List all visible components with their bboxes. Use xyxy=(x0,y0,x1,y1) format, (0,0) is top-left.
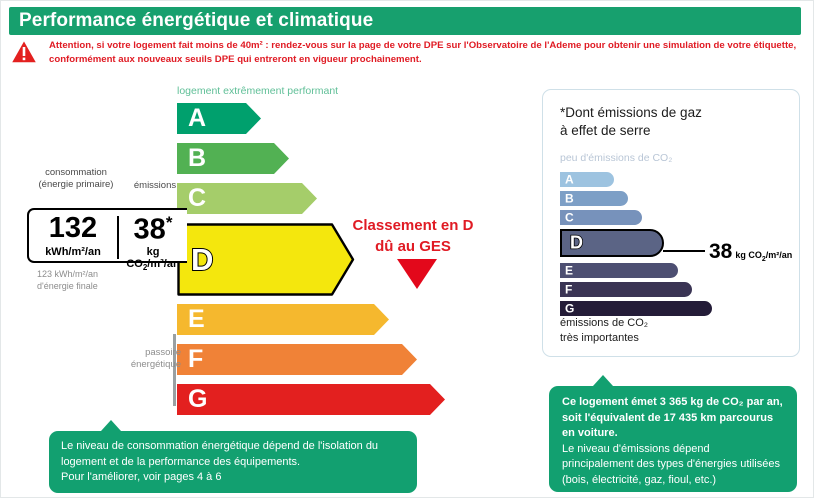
ges-bar-g-letter: G xyxy=(565,302,574,314)
passoire-label: passoire énergétique xyxy=(93,347,181,371)
energy-bar-f-letter: F xyxy=(188,347,203,372)
ges-value-number: 38 xyxy=(709,240,732,263)
energy-bar-f: F xyxy=(177,344,417,375)
passoire-line1: passoire xyxy=(145,347,181,358)
ges-title-line2: à effet de serre xyxy=(560,123,651,138)
energy-bar-a: A xyxy=(177,103,261,134)
emissions-label: émissions xyxy=(119,180,191,191)
classement-line2: dû au GES xyxy=(375,238,451,255)
consumption-info-line1: Le niveau de consommation énergétique dé… xyxy=(61,440,378,452)
ges-caption-bottom-line2: très importantes xyxy=(560,332,639,344)
consumption-label-line1: consommation xyxy=(45,167,107,178)
energy-bar-b-letter: B xyxy=(188,146,206,171)
consumption-value: 132 xyxy=(29,214,117,243)
emissions-info-line1: Ce logement émet 3 365 kg de CO₂ par xyxy=(562,396,764,408)
ges-caption-bottom-line1: émissions de CO₂ xyxy=(560,317,648,329)
final-energy-line1: 123 kWh/m²/an xyxy=(37,269,98,279)
ges-bar-b-letter: B xyxy=(565,192,574,204)
emissions-info-bubble: Ce logement émet 3 365 kg de CO₂ par an,… xyxy=(549,386,797,492)
emissions-unit-post: /m²/an xyxy=(147,258,179,270)
scale-caption-top: logement extrêmement performant xyxy=(177,85,338,97)
final-energy-line2: d'énergie finale xyxy=(37,281,98,291)
ges-bar-b: B xyxy=(560,191,628,206)
ges-bar-c-letter: C xyxy=(565,211,574,223)
ges-bar-f: F xyxy=(560,282,692,297)
ges-value: 38kg CO2/m²/an xyxy=(709,240,792,264)
ges-bar-d-letter: D xyxy=(570,233,583,251)
passoire-line2: énergétique xyxy=(131,359,181,370)
consumption-info-line2: logement et de la performance des équipe… xyxy=(61,456,300,468)
emissions-number: 38 xyxy=(134,214,166,246)
header-bar: Performance énergétique et climatique xyxy=(9,7,801,35)
consumption-unit: kWh/m²/an xyxy=(29,246,117,258)
ges-panel: *Dont émissions de gaz à effet de serre … xyxy=(542,89,800,357)
classement-callout: Classement en D dû au GES xyxy=(333,215,493,257)
dpe-diagram-page: Performance énergétique et climatique At… xyxy=(0,0,814,498)
consumption-info-bubble: Le niveau de consommation énergétique dé… xyxy=(49,431,417,493)
consumption-info-line3: Pour l'améliorer, voir pages 4 à 6 xyxy=(61,471,221,483)
energy-bar-c: C xyxy=(177,183,317,214)
ges-bar-d-current: D xyxy=(560,229,664,257)
down-triangle-icon xyxy=(397,259,437,289)
ges-bar-c: C xyxy=(560,210,642,225)
ges-title: *Dont émissions de gaz à effet de serre xyxy=(560,104,702,140)
emissions-value: 38* xyxy=(119,214,187,245)
emissions-value-cell: 38* kg CO2/m²/an xyxy=(119,210,187,261)
ges-bar-g: G xyxy=(560,301,712,316)
emissions-unit: kg CO2/m²/an xyxy=(119,246,187,272)
page-title: Performance énergétique et climatique xyxy=(19,10,373,32)
emissions-info-line4: Le niveau d'émissions dépend xyxy=(562,443,710,455)
final-energy-note: 123 kWh/m²/an d'énergie finale xyxy=(37,269,98,292)
consumption-label-line2: (énergie primaire) xyxy=(39,179,114,190)
energy-bar-g-letter: G xyxy=(188,387,207,412)
ges-leader-line xyxy=(663,250,705,252)
energy-bar-e: E xyxy=(177,304,389,335)
value-box: 132 kWh/m²/an 38* kg CO2/m²/an xyxy=(27,208,187,263)
energy-scale-section: logement extrêmement performant logement… xyxy=(1,79,531,424)
energy-bar-b: B xyxy=(177,143,289,174)
consumption-label: consommation (énergie primaire) xyxy=(21,167,131,191)
ges-bar-a-letter: A xyxy=(565,173,574,185)
energy-bar-d-current: D xyxy=(177,223,355,296)
ges-caption-bottom: émissions de CO₂ très importantes xyxy=(560,316,648,345)
warning-text: Attention, si votre logement fait moins … xyxy=(49,39,801,67)
consumption-value-cell: 132 kWh/m²/an xyxy=(29,210,117,261)
emissions-asterisk: * xyxy=(166,213,173,232)
energy-bar-g: G xyxy=(177,384,445,415)
ges-value-unit: kg CO2/m²/an xyxy=(735,250,792,260)
ges-unit-pre: kg CO xyxy=(735,250,762,260)
ges-bar-e-letter: E xyxy=(565,264,573,276)
energy-bar-d-letter: D xyxy=(191,243,213,274)
emissions-info-line5: principalement des types d'énergies xyxy=(562,458,737,470)
energy-bar-e-letter: E xyxy=(188,307,205,332)
energy-bar-a-letter: A xyxy=(188,106,206,131)
ges-caption-top: peu d'émissions de CO₂ xyxy=(560,152,672,164)
bubble-tip-left xyxy=(101,420,121,431)
ges-title-line1: *Dont émissions de gaz xyxy=(560,105,702,120)
classement-line1: Classement en D xyxy=(353,217,474,234)
ges-unit-post: /m²/an xyxy=(766,250,793,260)
ges-bar-f-letter: F xyxy=(565,283,572,295)
ges-bar-e: E xyxy=(560,263,678,278)
bubble-tip-right xyxy=(593,375,613,386)
warning-triangle-icon xyxy=(10,39,38,65)
ges-bar-a: A xyxy=(560,172,614,187)
